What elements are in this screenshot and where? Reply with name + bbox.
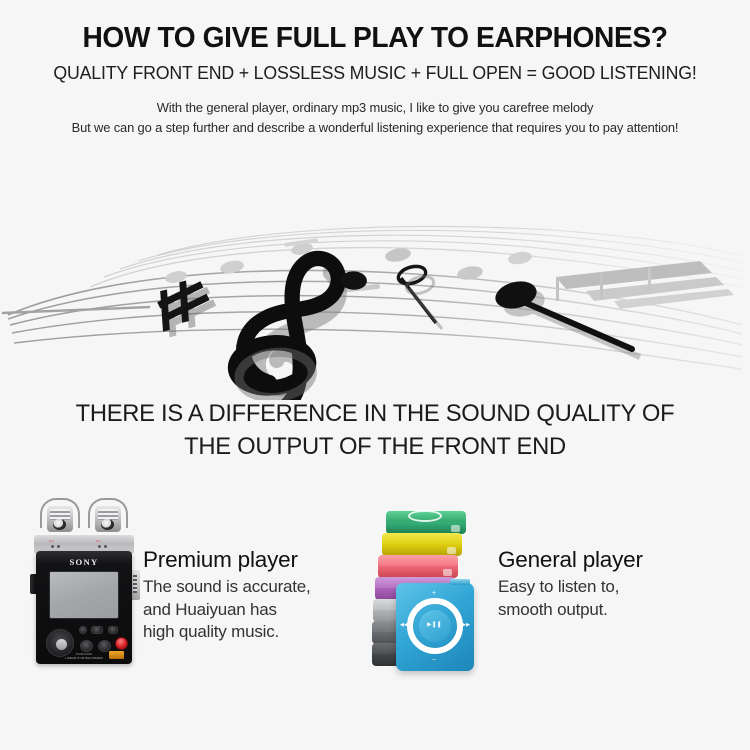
mic-label-right: MIC — [96, 540, 101, 543]
music-staff-illustration — [0, 215, 750, 400]
general-player-desc-2: smooth output. — [498, 599, 728, 622]
section-heading: THERE IS A DIFFERENCE IN THE SOUND QUALI… — [0, 398, 750, 463]
function-button[interactable] — [79, 626, 87, 634]
shuffle-clip — [451, 525, 460, 532]
intro-line-2: But we can go a step further and describ… — [8, 118, 743, 138]
general-player-title: General player — [498, 546, 728, 573]
led-indicator — [98, 545, 101, 548]
shuffle-blue-front: + − ◀◀ ▶▶ ▶❚❚ — [396, 583, 474, 671]
premium-player-desc-3: high quality music. — [143, 621, 358, 644]
sony-brand-logo: SONY — [36, 557, 132, 567]
sony-pcm-recorder: MIC MIC SONY — [30, 498, 138, 666]
recorder-body: SONY PCM-D100 LINEAR PCM RECORDER — [36, 551, 132, 664]
product-comparison: MIC MIC SONY — [0, 498, 750, 698]
beamed-notes-right — [556, 261, 734, 309]
function-button[interactable] — [108, 626, 118, 634]
section-heading-line-2: THE OUTPUT OF THE FRONT END — [11, 431, 739, 464]
shuffle-clip — [443, 569, 452, 576]
led-indicator — [104, 545, 107, 548]
play-pause-icon[interactable]: ▶❚❚ — [427, 622, 442, 628]
intro-paragraph: With the general player, ordinary mp3 mu… — [0, 98, 750, 138]
page-title: HOW TO GIVE FULL PLAY TO EARPHONES? — [11, 22, 739, 55]
volume-up-icon[interactable]: + — [432, 590, 436, 597]
shuffle-clip — [447, 547, 456, 554]
shuffle-blue-clip — [450, 579, 470, 585]
premium-player-title: Premium player — [143, 546, 358, 573]
function-button[interactable] — [80, 640, 93, 652]
previous-track-icon[interactable]: ◀◀ — [400, 623, 408, 628]
general-player-desc-1: Easy to listen to, — [498, 576, 728, 599]
mic-capsule-right — [95, 506, 121, 532]
ipod-shuffle-stack: + − ◀◀ ▶▶ ▶❚❚ — [372, 505, 492, 687]
premium-player-image: MIC MIC SONY — [30, 498, 138, 666]
general-player-copy: General player Easy to listen to, smooth… — [498, 546, 728, 621]
volume-down-icon[interactable]: − — [432, 657, 436, 664]
page-header: HOW TO GIVE FULL PLAY TO EARPHONES? QUAL… — [0, 0, 750, 138]
mic-label-left: MIC — [49, 540, 54, 543]
shuffle-pink — [378, 555, 458, 578]
next-track-icon[interactable]: ▶▶ — [462, 623, 470, 628]
shuffle-green — [386, 511, 466, 534]
led-indicator — [51, 545, 54, 548]
record-button[interactable] — [115, 637, 128, 650]
recorder-lcd-screen — [49, 571, 119, 619]
premium-player-desc-1: The sound is accurate, — [143, 576, 358, 599]
section-heading-line-1: THERE IS A DIFFERENCE IN THE SOUND QUALI… — [11, 398, 739, 431]
function-button[interactable] — [91, 626, 103, 634]
shuffle-click-wheel-icon — [408, 510, 442, 522]
mic-capsule-left — [47, 506, 73, 532]
microphone-assembly — [38, 498, 130, 540]
shuffle-yellow — [382, 533, 462, 556]
premium-player-copy: Premium player The sound is accurate, an… — [143, 546, 358, 644]
intro-line-1: With the general player, ordinary mp3 mu… — [8, 98, 743, 118]
led-indicator — [57, 545, 60, 548]
general-player-image: + − ◀◀ ▶▶ ▶❚❚ — [372, 505, 492, 687]
premium-player-desc-2: and Huaiyuan has — [143, 599, 358, 622]
page-subtitle: QUALITY FRONT END + LOSSLESS MUSIC + FUL… — [15, 62, 735, 84]
recorder-amber-badge — [109, 651, 124, 659]
